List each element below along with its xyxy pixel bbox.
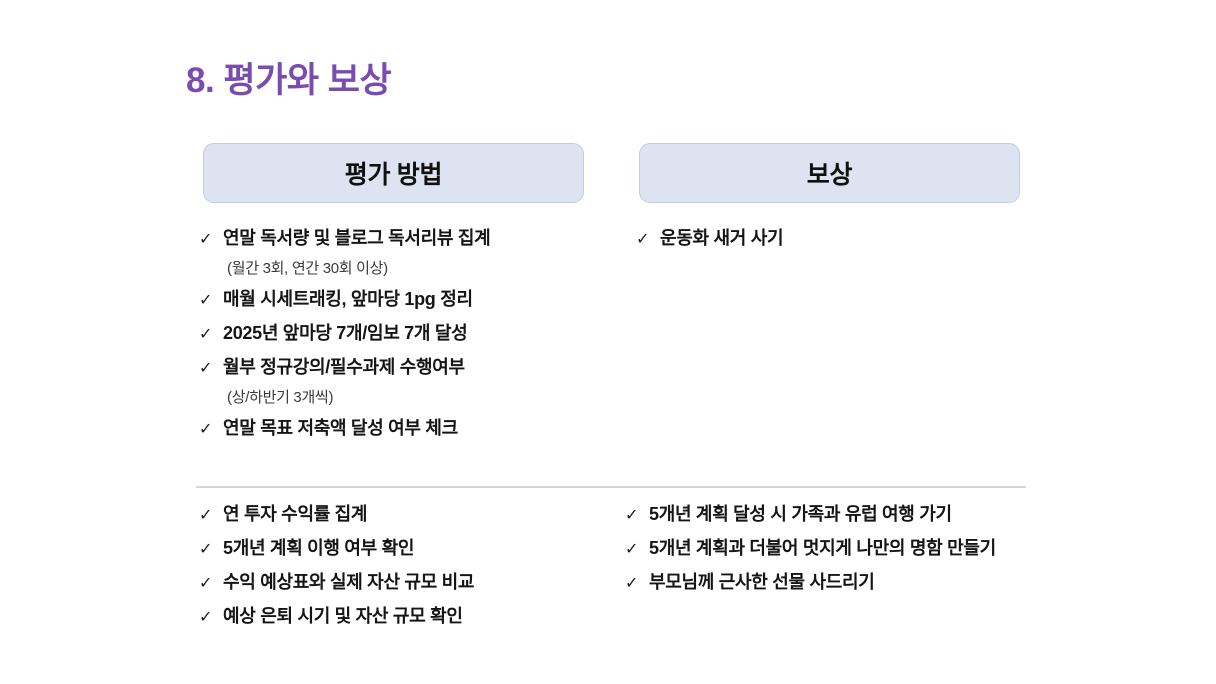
list-item-label: 5개년 계획과 더불어 멋지게 나만의 명함 만들기 <box>649 537 996 560</box>
list-reward-top: ✓ 운동화 새거 사기 <box>636 227 1056 261</box>
list-item-label: 부모님께 근사한 선물 사드리기 <box>649 571 874 594</box>
check-icon: ✓ <box>199 231 223 247</box>
check-icon: ✓ <box>625 541 649 557</box>
list-item: ✓ 예상 은퇴 시기 및 자산 규모 확인 <box>199 605 599 628</box>
list-item: ✓ 월부 정규강의/필수과제 수행여부 <box>199 356 599 379</box>
list-evaluation-top: ✓ 연말 독서량 및 블로그 독서리뷰 집계 (월간 3회, 연간 30회 이상… <box>199 227 599 451</box>
list-item-label: 5개년 계획 이행 여부 확인 <box>223 537 414 560</box>
list-item-label: 매월 시세트래킹, 앞마당 1pg 정리 <box>223 288 473 311</box>
page-title: 8. 평가와 보상 <box>186 52 391 103</box>
list-item-label: 운동화 새거 사기 <box>660 227 783 250</box>
list-item-label: 연말 목표 저축액 달성 여부 체크 <box>223 417 458 440</box>
check-icon: ✓ <box>199 421 223 437</box>
list-item-label: 월부 정규강의/필수과제 수행여부 <box>223 356 465 379</box>
check-icon: ✓ <box>199 541 223 557</box>
column-header-evaluation-label: 평가 방법 <box>345 155 442 191</box>
list-item: ✓ 부모님께 근사한 선물 사드리기 <box>625 571 1075 594</box>
list-item-label: 2025년 앞마당 7개/임보 7개 달성 <box>223 322 467 345</box>
check-icon: ✓ <box>199 609 223 625</box>
column-header-reward: 보상 <box>639 143 1020 203</box>
check-icon: ✓ <box>199 507 223 523</box>
list-item-label: 5개년 계획 달성 시 가족과 유럽 여행 가기 <box>649 503 952 526</box>
list-item-note: (월간 3회, 연간 30회 이상) <box>227 257 599 278</box>
check-icon: ✓ <box>199 292 223 308</box>
list-item-note: (상/하반기 3개씩) <box>227 386 599 407</box>
check-icon: ✓ <box>199 326 223 342</box>
list-item: ✓ 2025년 앞마당 7개/임보 7개 달성 <box>199 322 599 345</box>
check-icon: ✓ <box>636 231 660 247</box>
section-divider <box>196 486 1026 488</box>
list-item: ✓ 수익 예상표와 실제 자산 규모 비교 <box>199 571 599 594</box>
list-item-label: 수익 예상표와 실제 자산 규모 비교 <box>223 571 474 594</box>
list-item: ✓ 5개년 계획 이행 여부 확인 <box>199 537 599 560</box>
list-item: ✓ 연말 독서량 및 블로그 독서리뷰 집계 <box>199 227 599 250</box>
list-item-label: 연 투자 수익률 집계 <box>223 503 367 526</box>
list-item: ✓ 매월 시세트래킹, 앞마당 1pg 정리 <box>199 288 599 311</box>
list-reward-bottom: ✓ 5개년 계획 달성 시 가족과 유럽 여행 가기 ✓ 5개년 계획과 더불어… <box>625 503 1075 605</box>
list-item: ✓ 운동화 새거 사기 <box>636 227 1056 250</box>
check-icon: ✓ <box>199 360 223 376</box>
list-item-label: 연말 독서량 및 블로그 독서리뷰 집계 <box>223 227 490 250</box>
check-icon: ✓ <box>625 575 649 591</box>
list-item: ✓ 연말 목표 저축액 달성 여부 체크 <box>199 417 599 440</box>
list-item: ✓ 연 투자 수익률 집계 <box>199 503 599 526</box>
list-evaluation-bottom: ✓ 연 투자 수익률 집계 ✓ 5개년 계획 이행 여부 확인 ✓ 수익 예상표… <box>199 503 599 639</box>
check-icon: ✓ <box>625 507 649 523</box>
column-header-evaluation: 평가 방법 <box>203 143 584 203</box>
column-header-reward-label: 보상 <box>807 155 852 191</box>
list-item: ✓ 5개년 계획 달성 시 가족과 유럽 여행 가기 <box>625 503 1075 526</box>
check-icon: ✓ <box>199 575 223 591</box>
slide-root: 8. 평가와 보상 평가 방법 보상 ✓ 연말 독서량 및 블로그 독서리뷰 집… <box>0 0 1216 684</box>
list-item-label: 예상 은퇴 시기 및 자산 규모 확인 <box>223 605 463 628</box>
list-item: ✓ 5개년 계획과 더불어 멋지게 나만의 명함 만들기 <box>625 537 1075 560</box>
